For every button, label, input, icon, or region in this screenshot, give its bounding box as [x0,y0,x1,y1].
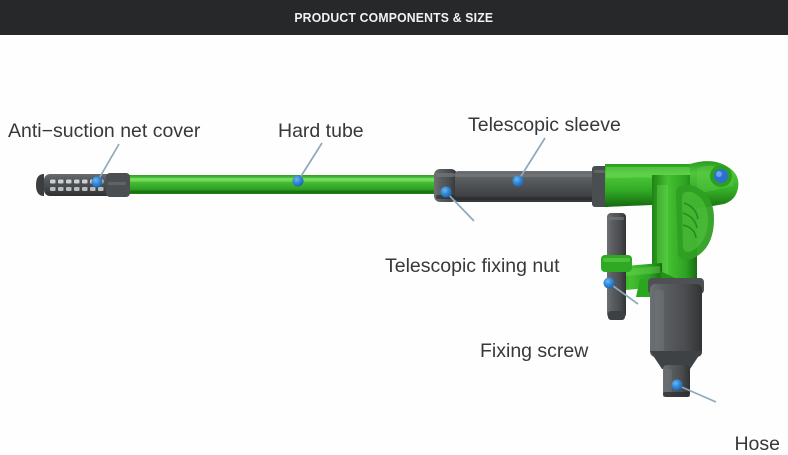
page-title: PRODUCT COMPONENTS & SIZE [295,10,494,25]
callout-dots [92,176,683,391]
product-components-diagram-page: PRODUCT COMPONENTS & SIZE [0,0,788,455]
diagram-stage: Anti−suction net cover Hard tube Telesco… [0,35,788,455]
callout-label-hose-connection: Hose connection [600,387,780,455]
part-anti-suction-net-cover [36,173,130,197]
callout-label-hard-tube: Hard tube [278,120,364,143]
callout-dot-anti-suction-net-cover[interactable] [92,177,103,188]
callout-label-anti-suction-net-cover: Anti−suction net cover [8,120,200,143]
part-telescopic-sleeve [455,166,610,207]
header-bar: PRODUCT COMPONENTS & SIZE [0,0,788,35]
callout-label-telescopic-sleeve: Telescopic sleeve [468,114,621,137]
callout-dot-hard-tube[interactable] [293,176,304,187]
part-fixing-screw [601,213,632,320]
callout-label-fixing-screw: Fixing screw [480,340,588,363]
callout-dot-fixing-screw[interactable] [604,278,615,289]
callout-label-hose-connection-line1: Hose [600,433,780,455]
callout-dot-telescopic-sleeve[interactable] [513,176,524,187]
callout-dot-telescopic-fixing-nut[interactable] [441,187,452,198]
part-hose-connection [648,278,704,397]
callout-label-telescopic-fixing-nut: Telescopic fixing nut [385,255,560,278]
part-hard-tube [126,175,438,194]
